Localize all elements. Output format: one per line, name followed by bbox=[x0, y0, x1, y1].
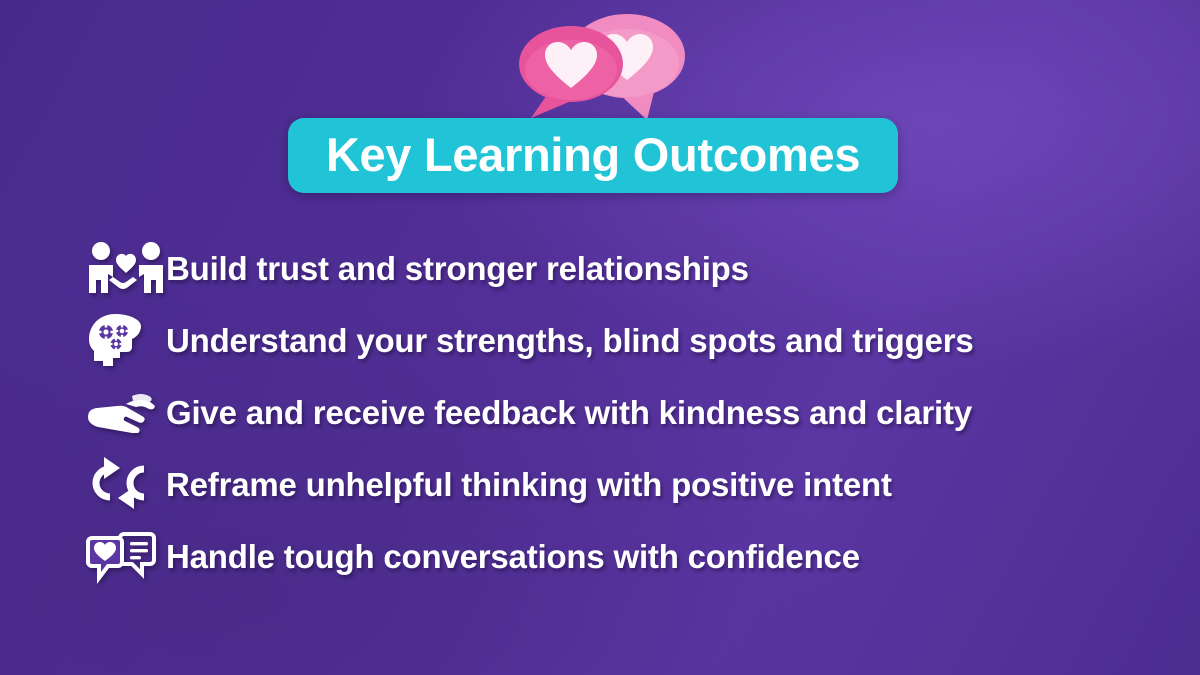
list-item-label: Reframe unhelpful thinking with positive… bbox=[166, 468, 892, 501]
list-item: Build trust and stronger relationships bbox=[84, 232, 1174, 304]
list-item-label: Build trust and stronger relationships bbox=[166, 252, 749, 285]
open-hand-icon bbox=[84, 382, 166, 442]
cycle-arrows-icon bbox=[84, 454, 166, 514]
list-item: Give and receive feedback with kindness … bbox=[84, 376, 1174, 448]
head-gears-icon bbox=[84, 310, 166, 370]
slide-canvas: Key Learning Outcomes Build trust and st… bbox=[0, 0, 1200, 675]
list-item: Understand your strengths, blind spots a… bbox=[84, 304, 1174, 376]
handshake-heart-icon bbox=[84, 238, 166, 298]
list-item-label: Handle tough conversations with confiden… bbox=[166, 540, 860, 573]
page-title-badge: Key Learning Outcomes bbox=[288, 118, 898, 193]
list-item: Handle tough conversations with confiden… bbox=[84, 520, 1174, 592]
key-learning-outcomes-list: Build trust and stronger relationships bbox=[84, 232, 1174, 592]
chat-bubbles-heart-icon bbox=[84, 526, 166, 586]
list-item-label: Give and receive feedback with kindness … bbox=[166, 396, 972, 429]
two-heart-speech-bubbles-icon bbox=[505, 8, 695, 120]
page-title: Key Learning Outcomes bbox=[326, 131, 860, 181]
list-item-label: Understand your strengths, blind spots a… bbox=[166, 324, 974, 357]
front-bubble bbox=[519, 26, 623, 118]
list-item: Reframe unhelpful thinking with positive… bbox=[84, 448, 1174, 520]
